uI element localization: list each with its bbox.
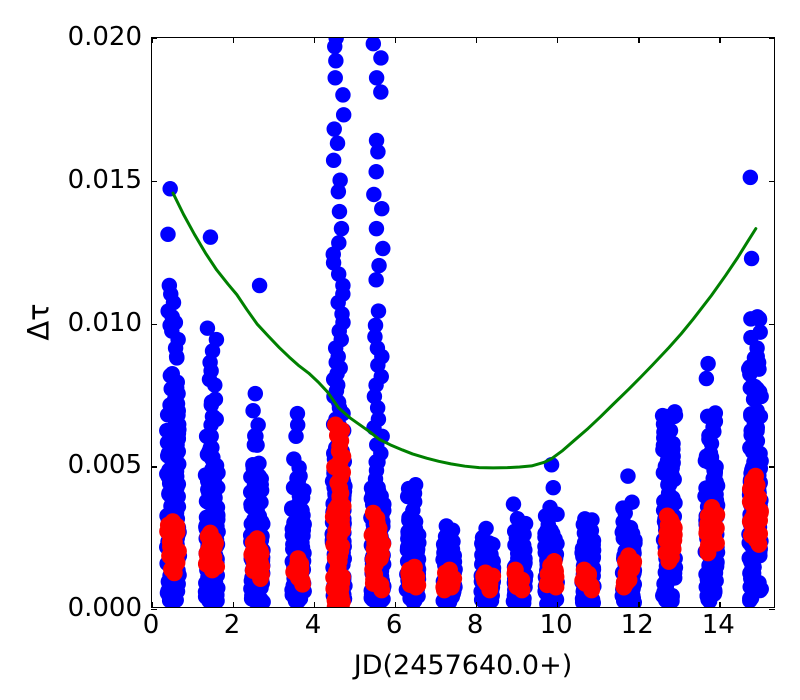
y-tick-0.005 [151,466,157,467]
blue-point [203,229,218,244]
red-point [202,525,219,542]
red-point [402,567,419,584]
blue-point [366,38,381,51]
x-tick-10 [557,602,558,608]
blue-point [368,164,383,179]
x-tick-top-2 [233,37,234,43]
blue-point [165,481,180,496]
blue-point [542,531,557,546]
blue-point [163,368,178,383]
x-tick-14 [719,602,720,608]
blue-point [400,489,415,504]
x-ticklabel-12: 12 [621,612,654,638]
y-ticklabel-0.015: 0.015 [68,167,142,193]
blue-point [743,170,758,185]
blue-point [207,377,222,392]
x-ticklabel-4: 4 [305,612,322,638]
blue-point [369,221,384,236]
x-tick-top-10 [557,37,558,43]
red-point [704,524,721,541]
red-point [546,553,563,570]
blue-point [327,121,342,136]
red-point [333,506,350,523]
plot-axes-area [151,37,775,608]
red-point [366,567,383,584]
x-ticklabel-2: 2 [224,612,241,638]
red-point [365,505,382,522]
blue-point [160,227,175,242]
blue-point [513,529,528,544]
blue-point [169,350,184,365]
x-tick-top-8 [476,37,477,43]
red-point [751,525,768,542]
blue-point [584,512,599,527]
x-tick-2 [233,602,234,608]
red-point [165,550,182,567]
blue-point [700,356,715,371]
blue-point [746,391,761,406]
y-tick-right-0.020 [769,38,775,39]
x-ticklabel-14: 14 [702,612,735,638]
red-point [327,529,344,546]
red-point [744,510,761,527]
red-point [327,416,344,433]
blue-point [248,386,263,401]
blue-point [288,429,303,444]
x-tick-top-6 [395,37,396,43]
blue-point [744,561,759,576]
x-tick-top-4 [314,37,315,43]
blue-point [699,371,714,386]
blue-point [335,87,350,102]
red-point [373,546,390,563]
blue-point [546,480,561,495]
blue-point [439,530,454,545]
red-point [660,517,677,534]
x-tick-4 [314,602,315,608]
blue-point [515,548,530,563]
blue-point [708,414,723,429]
blue-point [251,456,266,471]
blue-point [663,454,678,469]
blue-point [370,454,385,469]
blue-point [328,70,343,85]
red-point [478,575,495,592]
red-point [250,557,267,574]
y-tick-right-0.005 [769,466,775,467]
red-point [619,556,636,573]
blue-point [252,278,267,293]
blue-point [752,324,767,339]
x-axis-label: JD(2457640.0+) [354,650,572,681]
blue-point [373,84,388,99]
blue-point [206,409,221,424]
x-tick-12 [638,602,639,608]
blue-point [665,436,680,451]
y-tick-0.020 [151,38,157,39]
y-tick-right-0.015 [769,181,775,182]
blue-point [246,485,261,500]
blue-point [199,494,214,509]
y-tick-right-0.010 [769,324,775,325]
x-ticklabel-0: 0 [143,612,160,638]
blue-point [549,507,564,522]
blue-point [328,53,343,68]
blue-point [296,483,311,498]
blue-point [162,181,177,196]
blue-point [371,258,386,273]
red-point [169,524,186,541]
blue-point [334,221,349,236]
blue-point [668,408,683,423]
blue-point [284,500,299,515]
red-point [285,564,302,581]
y-ticklabel-0.000: 0.000 [68,595,142,621]
blue-point [167,586,182,601]
blue-point [373,50,388,65]
y-ticklabel-0.020: 0.020 [68,24,142,50]
blue-point [368,272,383,287]
blue-point [506,496,521,511]
blue-point [374,201,389,216]
blue-point [336,107,351,122]
red-point [508,572,525,589]
blue-point [170,396,185,411]
blue-point [375,241,390,256]
red-point [331,488,348,505]
red-point [747,468,764,485]
blue-point [163,381,178,396]
x-tick-0 [152,602,153,608]
blue-point [370,490,385,505]
blue-point [366,187,381,202]
blue-point [326,153,341,168]
data-layer [159,38,769,607]
blue-point [662,587,677,602]
blue-point [744,590,759,605]
blue-point [370,144,385,159]
blue-point [615,500,630,515]
red-point [249,530,266,547]
blue-point [623,520,638,535]
red-point [616,574,633,591]
red-point [659,533,676,550]
blue-point [330,136,345,151]
blue-point [620,468,635,483]
x-ticklabel-6: 6 [386,612,403,638]
blue-point [710,478,725,493]
red-point [703,499,720,516]
y-ticklabel-0.005: 0.005 [68,452,142,478]
blue-point [294,516,309,531]
plot-drawing-canvas [152,38,774,607]
blue-point [249,437,264,452]
red-point [576,568,593,585]
blue-point [748,451,763,466]
blue-point [198,589,213,604]
red-point [331,553,348,570]
blue-point [751,355,766,370]
blue-point [371,303,386,318]
blue-point [327,39,342,54]
blue-point [580,530,595,545]
x-tick-8 [476,602,477,608]
x-ticklabel-10: 10 [540,612,573,638]
blue-point [331,184,346,199]
x-tick-6 [395,602,396,608]
blue-point [369,70,384,85]
y-axis-label: Δτ [22,303,56,340]
blue-point [288,537,303,552]
blue-point [745,427,760,442]
red-point [206,549,223,566]
blue-point [704,568,719,583]
y-tick-0.015 [151,181,157,182]
red-point [441,562,458,579]
x-tick-top-12 [638,37,639,43]
y-tick-right-0.000 [769,609,775,610]
x-ticklabel-8: 8 [467,612,484,638]
blue-point [164,458,179,473]
blue-point [206,459,221,474]
blue-point [744,251,759,266]
red-point [441,577,458,594]
blue-point [204,394,219,409]
blue-point [159,423,174,438]
x-tick-top-14 [719,37,720,43]
blue-point [409,525,424,540]
blue-point [332,204,347,219]
y-tick-0.010 [151,324,157,325]
blue-point [245,403,260,418]
blue-point [253,592,268,607]
y-ticklabel-0.010: 0.010 [68,310,142,336]
blue-point [703,586,718,601]
figure-scatter-plot: 02468101214 0.0000.0050.0100.0150.020 JD… [0,0,800,700]
red-point [539,576,556,593]
